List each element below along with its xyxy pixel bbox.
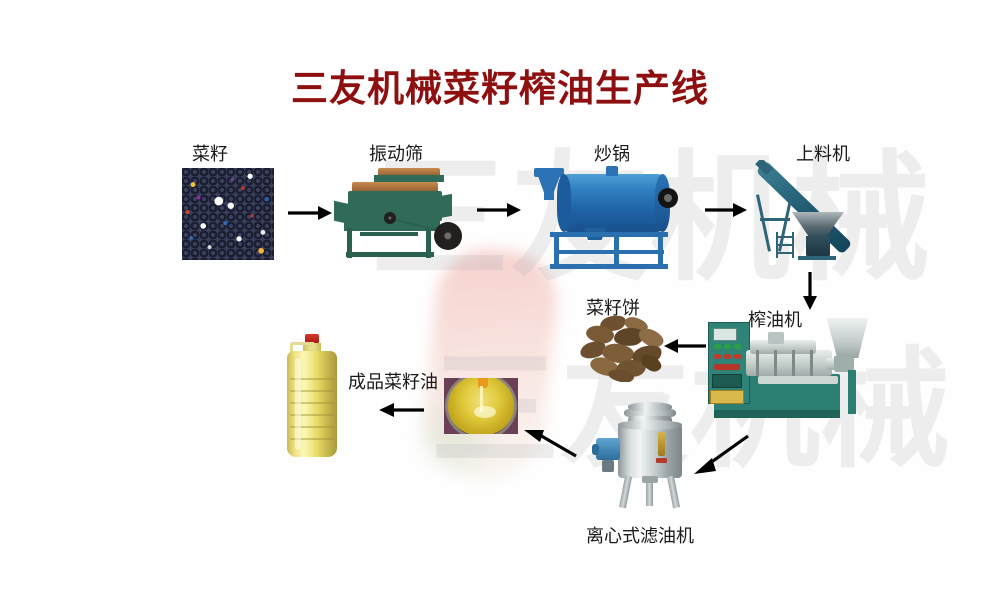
roasting-drum-machine bbox=[528, 162, 680, 272]
rapeseed-cake-pile bbox=[578, 314, 670, 382]
arrow-oil-to-bottle bbox=[376, 400, 426, 420]
arrow-elevator-to-press bbox=[800, 272, 820, 312]
oil-bottle-product bbox=[283, 334, 341, 460]
screw-conveyor-machine bbox=[748, 160, 860, 268]
diagram-canvas: 三友机械 三友机械 三友机械菜籽榨油生产线 菜籽 振动筛 bbox=[0, 0, 1000, 600]
page-title: 三友机械菜籽榨油生产线 bbox=[0, 58, 1000, 112]
node-label-finished: 成品菜籽油 bbox=[348, 368, 438, 394]
node-label-filter: 离心式滤油机 bbox=[586, 522, 694, 548]
node-label-rapeseed: 菜籽 bbox=[192, 140, 228, 166]
arrow-roaster-to-elevator bbox=[705, 200, 749, 220]
arrow-filter-to-oil bbox=[518, 428, 580, 462]
oil-press-machine bbox=[698, 310, 870, 422]
centrifugal-oil-filter bbox=[592, 402, 708, 512]
vibrating-screen-machine bbox=[330, 166, 466, 270]
arrow-vibro-to-roaster bbox=[477, 200, 523, 220]
oil-in-pan-photo bbox=[444, 378, 518, 434]
rapeseed-seeds-photo bbox=[182, 168, 274, 260]
arrow-rapeseed-to-vibro bbox=[288, 203, 334, 223]
node-label-vibro: 振动筛 bbox=[369, 140, 423, 166]
